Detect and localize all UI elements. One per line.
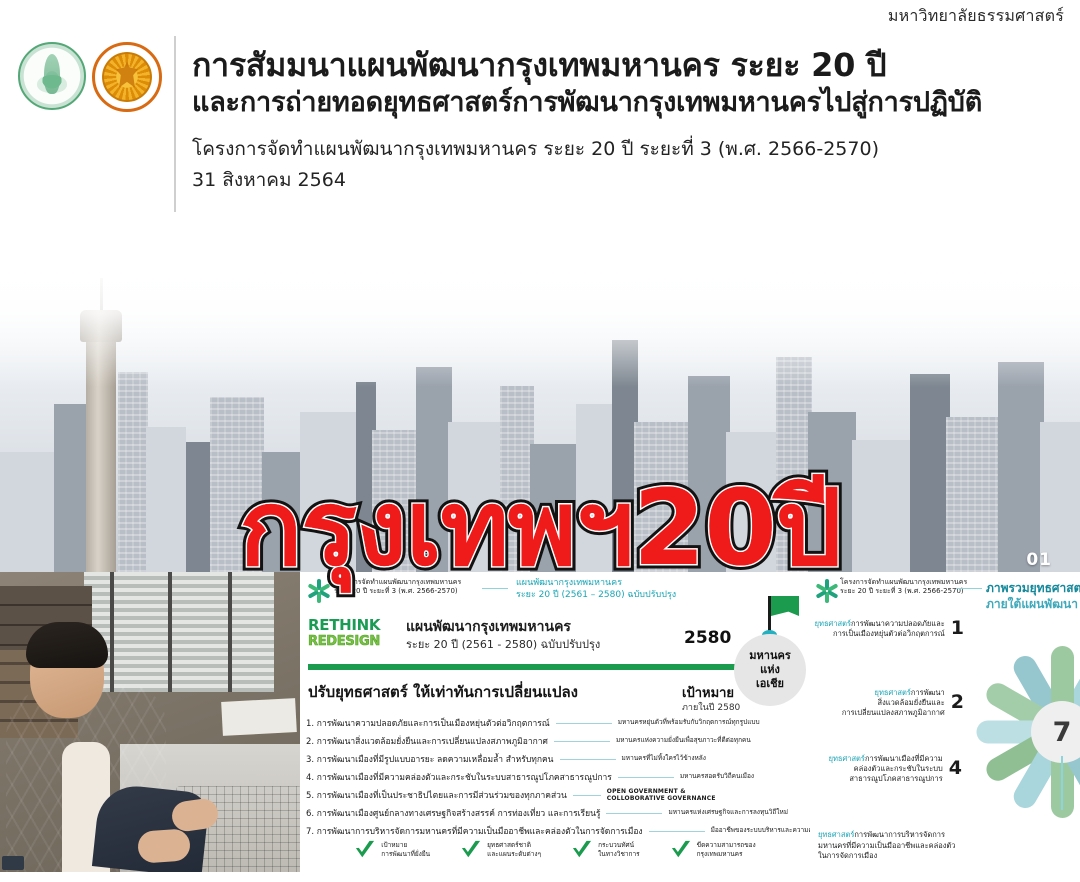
- strategy-row: 7. การพัฒนาการบริหารจัดการมหานครที่มีควา…: [306, 822, 806, 840]
- check-badge: ยุทธศาสตร์ชาติ และแผนระดับต่างๆ: [460, 840, 541, 860]
- card-header-mid2: ระยะ 20 ปี (2561 – 2580) ฉบับปรับปรุง: [516, 589, 676, 601]
- check-badge-label: ขีดความสามารถของ กรุงเทพมหานคร: [697, 841, 756, 859]
- strategy-row-title: 7. การพัฒนาการบริหารจัดการมหานครที่มีควา…: [306, 824, 643, 838]
- building: [210, 397, 264, 572]
- person-hand: [137, 828, 191, 864]
- check-badge-label: ยุทธศาสตร์ชาติ และแผนระดับต่างๆ: [487, 841, 541, 859]
- check-badge-label: เป้าหมาย การพัฒนาที่ยั่งยืน: [381, 841, 430, 859]
- logo-line2: REDESIGN: [308, 635, 400, 648]
- strategy-row-result: มืออาชีพของระบบบริหารและความคล่องตัวในกา…: [711, 827, 810, 835]
- building: [776, 357, 812, 572]
- wheel-label-bottom-prefix: ยุทธศาสตร์: [818, 830, 854, 839]
- flower-logo-icon: [308, 580, 330, 602]
- seminar-date: 31 สิงหาคม 2564: [192, 167, 1072, 194]
- strategy-row: 3. การพัฒนาเมืองที่มีรูปแบบอารยะ ลดความเ…: [306, 750, 806, 768]
- strategy-row-title: 6. การพัฒนาเมืองศูนย์กลางทางเศรษฐกิจสร้า…: [306, 806, 600, 820]
- check-badges: เป้าหมาย การพัฒนาที่ยั่งยืนยุทธศาสตร์ชาต…: [300, 840, 810, 860]
- wheel-label-2-number: 2: [951, 690, 964, 716]
- building: [118, 372, 148, 572]
- seminar-title-line2: และการถ่ายทอดยุทธศาสตร์การพัฒนากรุงเทพมห…: [192, 86, 1072, 120]
- building: [910, 374, 950, 572]
- card-header-line2: ระยะ 20 ปี ระยะที่ 3 (พ.ศ. 2566-2570): [840, 587, 967, 596]
- wheel-label-2: ยุทธศาสตร์การพัฒนา สิ่งแวดล้อมยั่งยืนและ…: [814, 688, 964, 718]
- window-mullion: [168, 572, 172, 692]
- strategy-row-result: มหานครหยุ่นตัวที่พร้อมรับกับวิกฤตการณ์ทุ…: [618, 719, 760, 727]
- strategy-row-result: มหานครแห่งเศรษฐกิจและการลงทุนวิถีใหม่: [668, 809, 788, 817]
- building: [808, 412, 856, 572]
- wheel-label-1-text: ยุทธศาสตร์การพัฒนาความปลอดภัยและ การเป็น…: [815, 619, 945, 639]
- strategy-row: 4. การพัฒนาเมืองที่มีความคล่องตัวและกระช…: [306, 768, 806, 786]
- strategy-row-connector: [573, 795, 601, 796]
- building: [576, 404, 616, 572]
- building: [54, 404, 88, 572]
- timeline-arrow-line: [308, 664, 740, 670]
- page-number: 01: [1026, 550, 1052, 570]
- wheel-label-bottom: ยุทธศาสตร์การพัฒนาการบริหารจัดการ มหานคร…: [818, 830, 1068, 862]
- building: [946, 417, 1002, 572]
- wheel-label-1-number: 1: [951, 616, 964, 642]
- window-mullion: [110, 572, 114, 692]
- title-slide: มหาวิทยาลัยธรรมศาสตร์ การสัมมนาแผนพัฒนาก…: [0, 0, 1080, 572]
- strategy-row-title: 5. การพัฒนาเมืองที่เป็นประชาธิปไตยและการ…: [306, 788, 567, 802]
- university-name: มหาวิทยาลัยธรรมศาสตร์: [888, 4, 1064, 29]
- wheel-title-line2: ภายใต้แผนพัฒนา: [986, 596, 1080, 612]
- plan-subtitle: ระยะ 20 ปี (2561 - 2580) ฉบับปรับปรุง: [406, 635, 600, 653]
- bangkok-skyline-photo: 01: [0, 212, 1080, 572]
- papers: [221, 698, 297, 736]
- goal-sublabel: ภายในปี 2580: [682, 700, 740, 714]
- check-badge-label: กระบวนทัศน์ ในทางวิชาการ: [598, 841, 640, 859]
- wheel-hub-stem: [1061, 756, 1063, 810]
- strategy-row-result: มหานครสอดรับวิถีคนเมือง: [680, 773, 754, 781]
- check-badge: ขีดความสามารถของ กรุงเทพมหานคร: [670, 840, 756, 860]
- building: [186, 442, 212, 572]
- strategy-row: 2. การพัฒนาสิ่งแวดล้อมยั่งยืนและการเปลี่…: [306, 732, 806, 750]
- building: [688, 376, 730, 572]
- wheel-label-4-number: 4: [949, 756, 962, 782]
- video-badge: [2, 856, 24, 870]
- building: [448, 422, 504, 572]
- check-icon: [670, 840, 692, 860]
- building: [146, 427, 186, 572]
- person-hair: [26, 622, 108, 668]
- wheel-label-1: ยุทธศาสตร์การพัฒนาความปลอดภัยและ การเป็น…: [814, 616, 964, 642]
- wheel-label-4: ยุทธศาสตร์การพัฒนาเมืองที่มีความ คล่องตั…: [814, 754, 962, 784]
- participant-video-tile[interactable]: [0, 572, 300, 872]
- rethink-redesign-logo: RETHINK REDESIGN: [308, 618, 400, 648]
- building: [726, 432, 780, 572]
- photo-haze: [0, 212, 1080, 387]
- slogan-text: ปรับยุทธศาสตร์ ให้เท่าทันการเปลี่ยนแปลง: [308, 680, 578, 704]
- strategy-row-connector: [649, 831, 705, 832]
- project-subtitle: โครงการจัดทำแผนพัฒนากรุงเทพมหานคร ระยะ 2…: [192, 136, 1072, 163]
- building: [372, 430, 420, 572]
- building: [852, 440, 914, 572]
- building: [500, 386, 534, 572]
- green-flag-icon: [771, 596, 799, 616]
- strategy-row-result: มหานครที่ไม่ทิ้งใครไว้ข้างหลัง: [622, 755, 706, 763]
- slide-card-timeline[interactable]: โครงการจัดทำแผนพัฒนากรุงเทพมหานคร ระยะ 2…: [300, 572, 810, 872]
- strategy-row-connector: [556, 723, 612, 724]
- title-block: การสัมมนาแผนพัฒนากรุงเทพมหานคร ระยะ 20 ป…: [192, 46, 1072, 193]
- check-icon: [571, 840, 593, 860]
- strategy-row: 1. การพัฒนาความปลอดภัยและการเป็นเมืองหยุ…: [306, 714, 806, 732]
- strategy-row-list: 1. การพัฒนาความปลอดภัยและการเป็นเมืองหยุ…: [306, 714, 806, 840]
- check-badge: เป้าหมาย การพัฒนาที่ยั่งยืน: [354, 840, 430, 860]
- strategy-row-title: 2. การพัฒนาสิ่งแวดล้อมยั่งยืนและการเปลี่…: [306, 734, 548, 748]
- building: [300, 412, 360, 572]
- wheel-label-2-text: ยุทธศาสตร์การพัฒนา สิ่งแวดล้อมยั่งยืนและ…: [842, 688, 945, 718]
- strategy-row-connector: [606, 813, 662, 814]
- strategy-row-title: 4. การพัฒนาเมืองที่มีความคล่องตัวและกระช…: [306, 770, 612, 784]
- strategy-row-title: 1. การพัฒนาความปลอดภัยและการเป็นเมืองหยุ…: [306, 716, 550, 730]
- header-rule: [482, 588, 508, 589]
- wheel-label-4-prefix: ยุทธศาสตร์: [829, 754, 865, 763]
- check-icon: [460, 840, 482, 860]
- bma-seal-icon: [18, 42, 86, 110]
- strategy-row-title: 3. การพัฒนาเมืองที่มีรูปแบบอารยะ ลดความเ…: [306, 752, 554, 766]
- slide-card-wheel[interactable]: โครงการจัดทำแผนพัฒนากรุงเทพมหานคร ระยะ 2…: [814, 572, 1080, 872]
- goal-circle-text: มหานคร แห่ง เอเชีย: [749, 649, 790, 690]
- strategy-row-result: มหานครแห่งความยั่งยืนเพื่อสุขภาวะที่ดีต่…: [616, 737, 751, 745]
- wheel-label-1-prefix: ยุทธศาสตร์: [815, 619, 851, 628]
- building: [530, 444, 580, 572]
- strategy-row-connector: [618, 777, 674, 778]
- card-header-line2: ระยะ 20 ปี ระยะที่ 3 (พ.ศ. 2566-2570): [334, 587, 461, 596]
- wheel-slide-title: ภาพรวมยุทธศาสตร์ ภายใต้แผนพัฒนา: [986, 580, 1080, 612]
- check-icon: [354, 840, 376, 860]
- thammasat-seal-icon: [92, 42, 162, 112]
- wheel-hub-number: 7: [1053, 717, 1072, 748]
- goal-circle: มหานคร แห่ง เอเชีย: [734, 634, 806, 706]
- header-rule: [956, 588, 982, 589]
- logo-line1: RETHINK: [308, 618, 400, 633]
- building: [634, 422, 692, 572]
- strategy-row: 6. การพัฒนาเมืองศูนย์กลางทางเศรษฐกิจสร้า…: [306, 804, 806, 822]
- strategy-row-connector: [560, 759, 616, 760]
- building: [998, 362, 1044, 572]
- check-badge: กระบวนทัศน์ ในทางวิชาการ: [571, 840, 640, 860]
- bottom-strip: โครงการจัดทำแผนพัฒนากรุงเทพมหานคร ระยะ 2…: [0, 572, 1080, 882]
- strategy-row-result: OPEN GOVERNMENT & COLLOBORATIVE GOVERNAN…: [607, 788, 716, 802]
- seminar-title-line1: การสัมมนาแผนพัฒนากรุงเทพมหานคร ระยะ 20 ป…: [192, 46, 1072, 85]
- card-header-right: โครงการจัดทำแผนพัฒนากรุงเทพมหานคร ระยะ 2…: [840, 578, 967, 597]
- strategy-row-connector: [554, 741, 610, 742]
- wheel-label-2-prefix: ยุทธศาสตร์: [875, 688, 911, 697]
- wheel-title-line1: ภาพรวมยุทธศาสตร์: [986, 581, 1080, 595]
- flower-logo-icon: [816, 580, 838, 602]
- card-header-mid1: แผนพัฒนากรุงเทพมหานคร: [516, 577, 676, 589]
- window-mullion: [228, 572, 232, 692]
- card-header-mid: แผนพัฒนากรุงเทพมหานคร ระยะ 20 ปี (2561 –…: [516, 577, 676, 601]
- building: [0, 452, 58, 572]
- screenshot-root: มหาวิทยาลัยธรรมศาสตร์ การสัมมนาแผนพัฒนาก…: [0, 0, 1080, 882]
- strategy-wheel: 7: [964, 634, 1080, 830]
- target-year: 2580: [684, 628, 731, 648]
- building: [416, 367, 452, 572]
- card-header-left: โครงการจัดทำแผนพัฒนากรุงเทพมหานคร ระยะ 2…: [334, 578, 461, 597]
- wheel-label-4-text: ยุทธศาสตร์การพัฒนาเมืองที่มีความ คล่องตั…: [829, 754, 943, 784]
- strategy-row: 5. การพัฒนาเมืองที่เป็นประชาธิปไตยและการ…: [306, 786, 806, 804]
